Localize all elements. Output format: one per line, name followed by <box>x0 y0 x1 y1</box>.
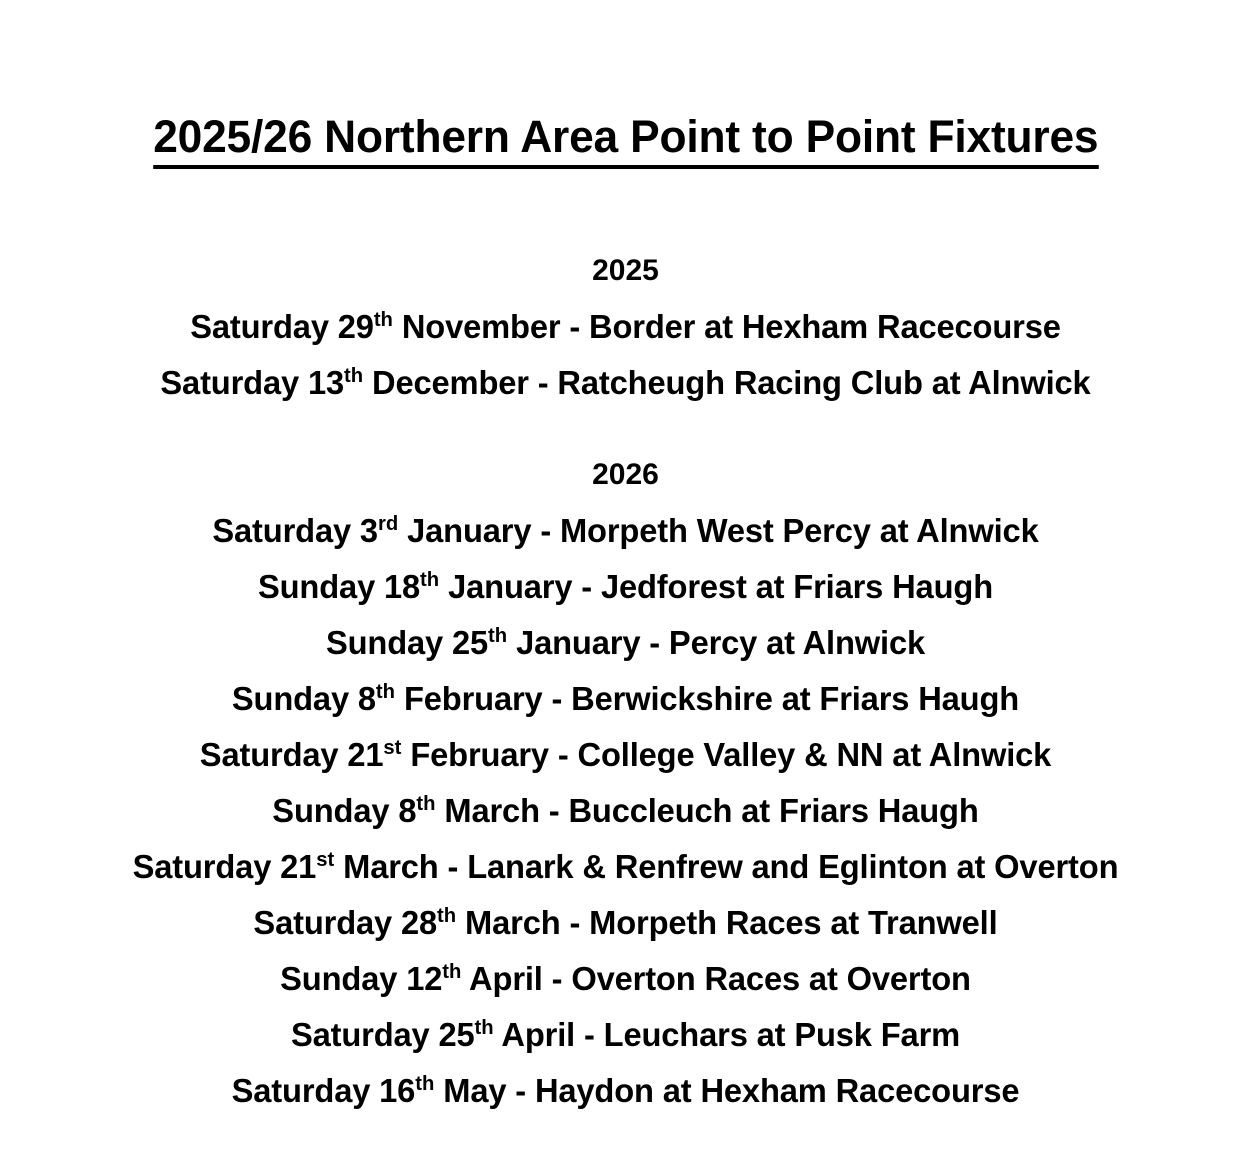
fixture-list: Saturday 3rd January - Morpeth West Perc… <box>0 503 1251 1119</box>
ordinal-suffix: th <box>416 792 435 815</box>
year-heading: 2026 <box>0 447 1251 503</box>
ordinal-suffix: th <box>376 680 395 703</box>
fixture-event: February - College Valley & NN at Alnwic… <box>401 736 1051 773</box>
fixture-list: Saturday 29th November - Border at Hexha… <box>0 299 1251 411</box>
fixture-event: January - Morpeth West Percy at Alnwick <box>398 512 1038 549</box>
ordinal-suffix: th <box>488 624 507 647</box>
ordinal-suffix: th <box>374 308 393 331</box>
ordinal-suffix: th <box>420 568 439 591</box>
fixture-event: December - Ratcheugh Racing Club at Alnw… <box>363 364 1090 401</box>
fixture-line: Saturday 13th December - Ratcheugh Racin… <box>6 355 1244 411</box>
fixture-event: March - Morpeth Races at Tranwell <box>456 904 997 941</box>
year-heading: 2025 <box>0 243 1251 299</box>
fixture-event: May - Haydon at Hexham Racecourse <box>434 1072 1019 1109</box>
fixture-line: Sunday 8th March - Buccleuch at Friars H… <box>6 783 1244 839</box>
fixtures-body: 2025Saturday 29th November - Border at H… <box>0 243 1251 1119</box>
ordinal-suffix: th <box>437 904 456 927</box>
fixture-event: January - Percy at Alnwick <box>507 624 925 661</box>
year-section-2026: 2026Saturday 3rd January - Morpeth West … <box>0 447 1251 1119</box>
ordinal-suffix: st <box>383 736 401 759</box>
fixture-date: Saturday 21 <box>200 736 384 773</box>
fixture-date: Saturday 21 <box>133 848 317 885</box>
fixture-date: Sunday 25 <box>326 624 488 661</box>
fixture-line: Sunday 18th January - Jedforest at Friar… <box>6 559 1244 615</box>
fixtures-document: 2025/26 Northern Area Point to Point Fix… <box>0 0 1251 1157</box>
fixture-date: Sunday 12 <box>280 960 442 997</box>
fixture-event: January - Jedforest at Friars Haugh <box>439 568 993 605</box>
ordinal-suffix: th <box>442 960 461 983</box>
fixture-line: Sunday 25th January - Percy at Alnwick <box>6 615 1244 671</box>
fixture-event: February - Berwickshire at Friars Haugh <box>395 680 1019 717</box>
fixture-line: Saturday 3rd January - Morpeth West Perc… <box>6 503 1244 559</box>
fixture-line: Saturday 21st March - Lanark & Renfrew a… <box>6 839 1244 895</box>
fixture-event: November - Border at Hexham Racecourse <box>393 308 1061 345</box>
fixture-line: Saturday 16th May - Haydon at Hexham Rac… <box>6 1063 1244 1119</box>
ordinal-suffix: th <box>344 364 363 387</box>
ordinal-suffix: th <box>415 1072 434 1095</box>
fixture-line: Saturday 21st February - College Valley … <box>6 727 1244 783</box>
fixture-event: March - Lanark & Renfrew and Eglinton at… <box>334 848 1118 885</box>
fixture-date: Saturday 13 <box>160 364 344 401</box>
fixture-line: Sunday 12th April - Overton Races at Ove… <box>6 951 1244 1007</box>
fixture-event: April - Leuchars at Pusk Farm <box>494 1016 960 1053</box>
ordinal-suffix: th <box>475 1016 494 1039</box>
ordinal-suffix: st <box>316 848 334 871</box>
fixture-line: Saturday 29th November - Border at Hexha… <box>6 299 1244 355</box>
title-container: 2025/26 Northern Area Point to Point Fix… <box>0 0 1251 199</box>
fixture-date: Sunday 8 <box>272 792 416 829</box>
fixture-date: Saturday 25 <box>291 1016 475 1053</box>
fixture-date: Sunday 8 <box>232 680 376 717</box>
fixture-date: Sunday 18 <box>258 568 420 605</box>
year-section-2025: 2025Saturday 29th November - Border at H… <box>0 243 1251 411</box>
fixture-event: April - Overton Races at Overton <box>461 960 970 997</box>
fixture-date: Saturday 29 <box>190 308 374 345</box>
ordinal-suffix: rd <box>378 512 398 535</box>
fixture-line: Saturday 28th March - Morpeth Races at T… <box>6 895 1244 951</box>
fixture-date: Saturday 16 <box>232 1072 416 1109</box>
fixture-line: Saturday 25th April - Leuchars at Pusk F… <box>6 1007 1244 1063</box>
fixture-date: Saturday 3 <box>212 512 378 549</box>
fixture-date: Saturday 28 <box>253 904 437 941</box>
page-title: 2025/26 Northern Area Point to Point Fix… <box>153 112 1098 168</box>
fixture-event: March - Buccleuch at Friars Haugh <box>435 792 978 829</box>
fixture-line: Sunday 8th February - Berwickshire at Fr… <box>6 671 1244 727</box>
